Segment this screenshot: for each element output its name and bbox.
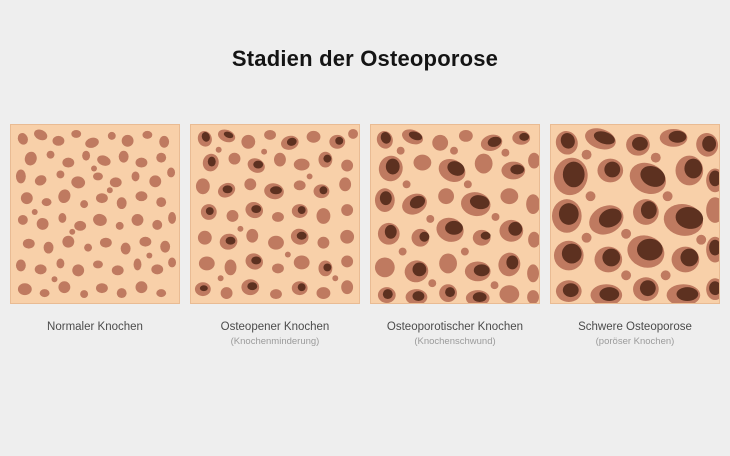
stage-sublabel: (Knochenschwund) bbox=[387, 336, 523, 348]
stage-label: Normaler Knochen bbox=[47, 320, 143, 334]
osteoporosis-stages-infographic: Stadien der Osteoporose bbox=[0, 0, 730, 456]
stage-sublabel: (poröser Knochen) bbox=[578, 336, 692, 348]
bone-illustration-normal bbox=[10, 124, 180, 304]
stage-card-osteopenic: Osteopener Knochen (Knochenminderung) bbox=[190, 124, 360, 348]
stage-card-severe: Schwere Osteoporose (poröser Knochen) bbox=[550, 124, 720, 348]
bone-illustration-osteoporotic bbox=[370, 124, 540, 304]
page-title: Stadien der Osteoporose bbox=[0, 46, 730, 72]
stage-caption-osteopenic: Osteopener Knochen (Knochenminderung) bbox=[221, 320, 330, 348]
stage-caption-osteoporotic: Osteoporotischer Knochen (Knochenschwund… bbox=[387, 320, 523, 348]
stage-card-osteoporotic: Osteoporotischer Knochen (Knochenschwund… bbox=[370, 124, 540, 348]
stage-panel-row: Normaler Knochen bbox=[10, 124, 720, 348]
stage-label: Schwere Osteoporose bbox=[578, 320, 692, 334]
stage-card-normal: Normaler Knochen bbox=[10, 124, 180, 348]
stage-caption-normal: Normaler Knochen bbox=[47, 320, 143, 334]
stage-sublabel: (Knochenminderung) bbox=[221, 336, 330, 348]
stage-label: Osteopener Knochen bbox=[221, 320, 330, 334]
bone-illustration-osteopenic bbox=[190, 124, 360, 304]
bone-illustration-severe bbox=[550, 124, 720, 304]
stage-label: Osteoporotischer Knochen bbox=[387, 320, 523, 334]
stage-caption-severe: Schwere Osteoporose (poröser Knochen) bbox=[578, 320, 692, 348]
